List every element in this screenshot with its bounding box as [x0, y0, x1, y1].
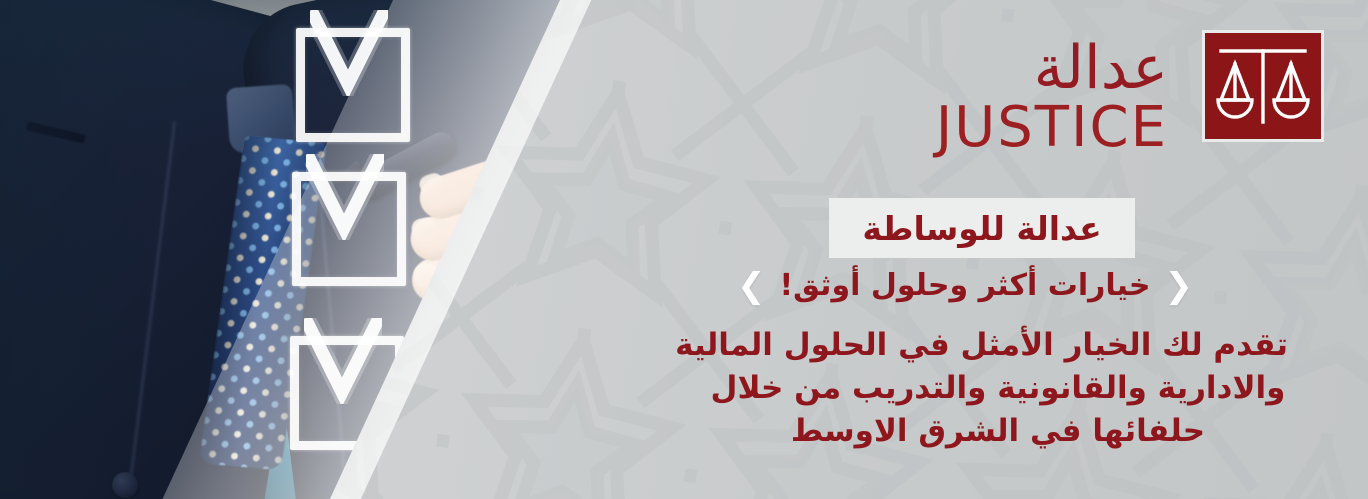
brand-lockup[interactable]: عدالة JUSTICE	[936, 30, 1324, 156]
chevron-end-icon: ❯	[737, 269, 766, 303]
body-copy-line-1: تقدم لك الخيار الأمثل في الحلول المالية	[708, 324, 1288, 367]
justice-promo-banner: عدالة JUSTICE	[0, 0, 1368, 499]
checkmark-icon-2	[306, 154, 384, 240]
chevron-start-icon: ❮	[1165, 269, 1194, 303]
body-copy-line-3: حلفائها في الشرق الاوسط	[708, 410, 1288, 453]
checkmark-icon-3	[304, 318, 382, 404]
tagline-text: خيارات أكثر وحلول أوثق!	[779, 268, 1150, 303]
body-copy-line-2: والادارية والقانونية والتدريب من خلال	[708, 367, 1288, 410]
checkmark-icon-1	[310, 10, 388, 96]
brand-wordmark: عدالة JUSTICE	[936, 30, 1168, 156]
headline-text: عدالة للوساطة	[862, 209, 1101, 248]
brand-name-english: JUSTICE	[936, 100, 1168, 156]
balance-scale-icon	[1202, 30, 1324, 142]
body-copy: تقدم لك الخيار الأمثل في الحلول المالية …	[708, 324, 1288, 452]
headline-chip: عدالة للوساطة	[829, 198, 1135, 258]
tagline-row: ❮ خيارات أكثر وحلول أوثق! ❯	[750, 268, 1180, 303]
brand-name-arabic: عدالة	[936, 38, 1168, 98]
